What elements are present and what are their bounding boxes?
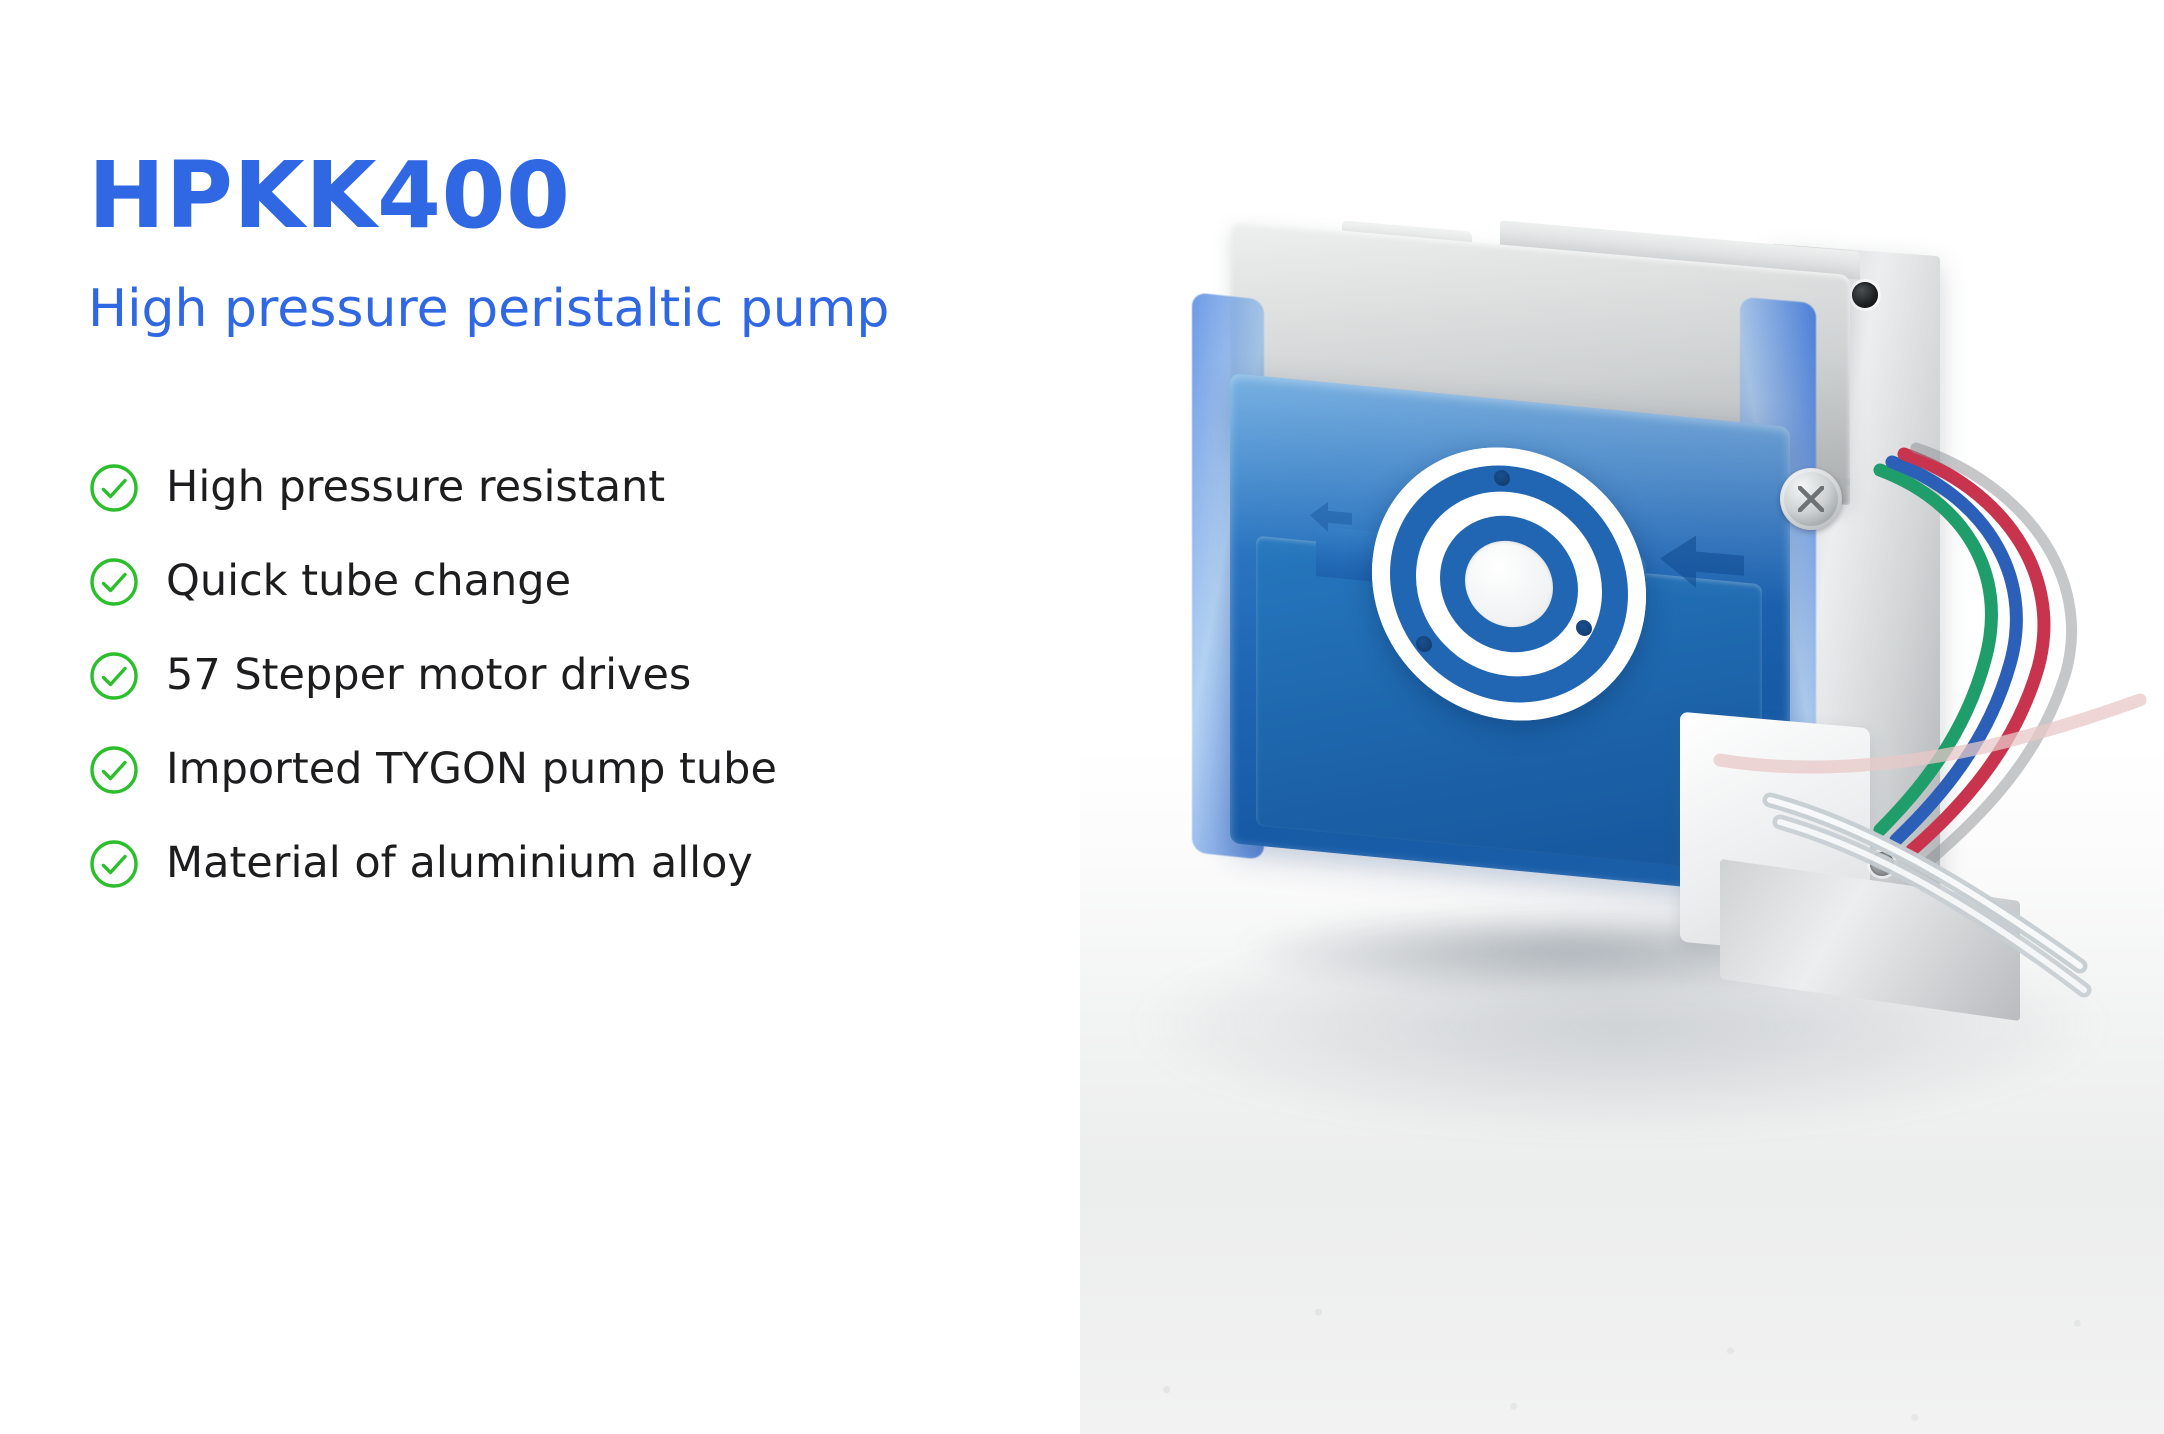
product-subtitle: High pressure peristaltic pump bbox=[88, 282, 1108, 337]
copy-column: HPKK400 High pressure peristaltic pump H… bbox=[88, 150, 1108, 911]
product-banner: HPKK400 High pressure peristaltic pump H… bbox=[0, 0, 2164, 1434]
feature-label: Material of aluminium alloy bbox=[166, 842, 753, 885]
check-circle-icon bbox=[88, 838, 140, 890]
check-circle-icon bbox=[88, 744, 140, 796]
check-circle-icon bbox=[88, 556, 140, 608]
product-photo bbox=[1080, 0, 2164, 1434]
feature-label: High pressure resistant bbox=[166, 466, 665, 509]
list-item: High pressure resistant bbox=[88, 441, 1108, 535]
feature-label: 57 Stepper motor drives bbox=[166, 654, 691, 697]
check-circle-icon bbox=[88, 650, 140, 702]
list-item: Imported TYGON pump tube bbox=[88, 723, 1108, 817]
pump-device bbox=[1080, 0, 2164, 1434]
list-item: Material of aluminium alloy bbox=[88, 817, 1108, 911]
list-item: 57 Stepper motor drives bbox=[88, 629, 1108, 723]
feature-label: Imported TYGON pump tube bbox=[166, 748, 777, 791]
list-item: Quick tube change bbox=[88, 535, 1108, 629]
check-circle-icon bbox=[88, 462, 140, 514]
clear-pump-tubing bbox=[1080, 0, 2164, 1434]
feature-label: Quick tube change bbox=[166, 560, 571, 603]
feature-list: High pressure resistant Quick tube chang… bbox=[88, 441, 1108, 911]
page-title: HPKK400 bbox=[88, 150, 1108, 242]
